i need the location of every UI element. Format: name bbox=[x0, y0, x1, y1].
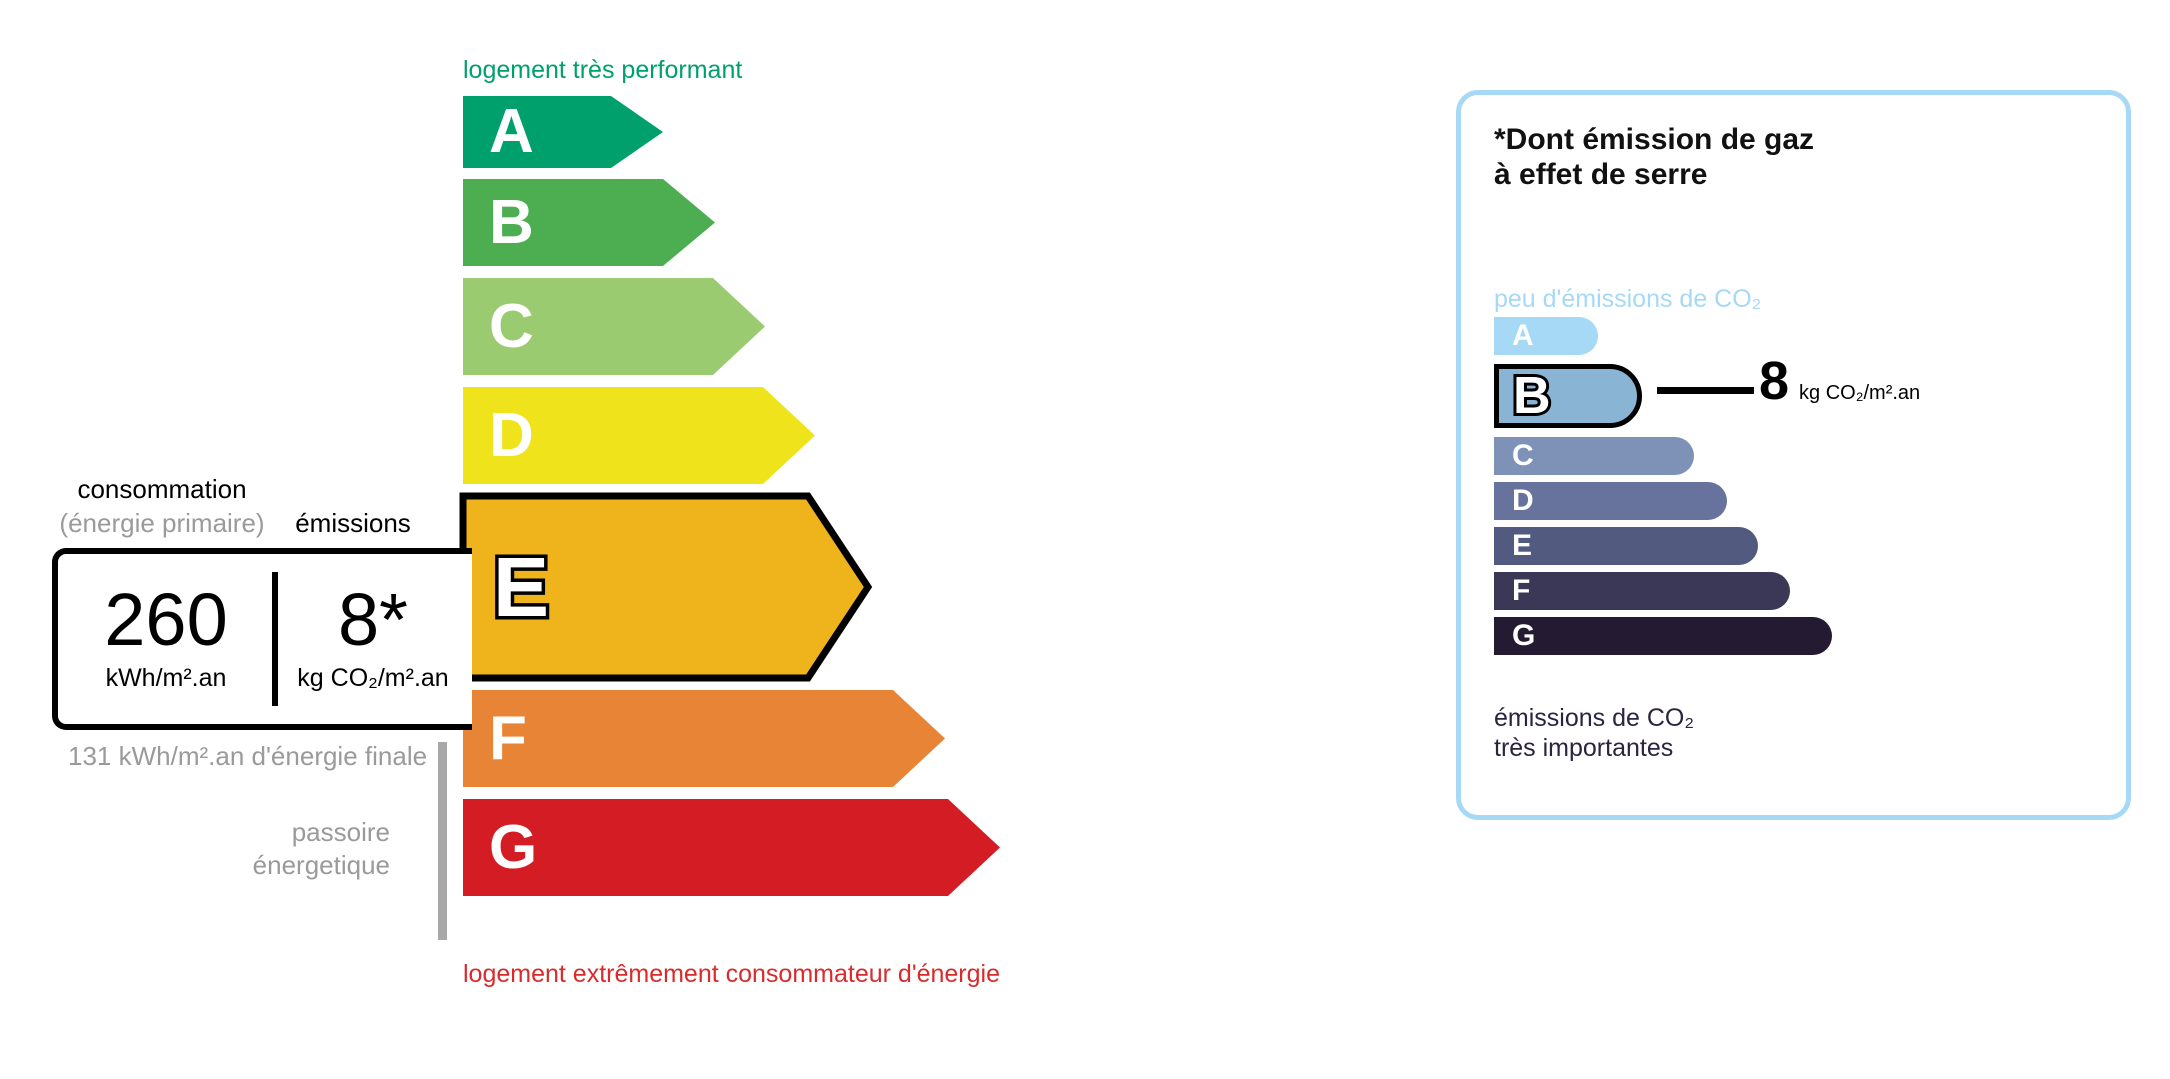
co2-panel-title: *Dont émission de gaz à effet de serre bbox=[1494, 122, 1814, 193]
co2-bar-e: E bbox=[1494, 527, 1758, 565]
energy-band-letter-f: F bbox=[489, 708, 527, 770]
dpe-diagram: logement très performant ABCDEFG consomm… bbox=[0, 0, 2170, 1079]
primary-energy-label: (énergie primaire) bbox=[38, 508, 286, 539]
energy-band-d: D bbox=[463, 387, 815, 484]
energy-sieve-bracket bbox=[438, 742, 447, 940]
co2-emission-panel: *Dont émission de gaz à effet de serre p… bbox=[1456, 90, 2131, 820]
co2-bar-letter-g: G bbox=[1512, 621, 1535, 651]
energy-band-letter-c: C bbox=[489, 296, 534, 358]
energy-scale-bottom-caption: logement extrêmement consommateur d'éner… bbox=[463, 960, 1000, 989]
co2-bar-letter-a: A bbox=[1512, 321, 1534, 351]
energy-band-letter-d: D bbox=[489, 405, 534, 467]
energy-band-c: C bbox=[463, 278, 765, 375]
energy-band-shape-g bbox=[463, 799, 1000, 896]
co2-bar-b: B bbox=[1494, 364, 1642, 428]
energy-band-a: A bbox=[463, 96, 663, 168]
co2-bar-f: F bbox=[1494, 572, 1790, 610]
energy-band-letter-g: G bbox=[489, 817, 537, 879]
emissions-label: émissions bbox=[268, 508, 438, 539]
energy-band-f: F bbox=[463, 690, 945, 787]
co2-bar-g: G bbox=[1494, 617, 1832, 655]
co2-bar-letter-b: B bbox=[1513, 370, 1551, 422]
co2-value-callout: 8 kg CO₂/m².an bbox=[1759, 354, 1920, 408]
co2-value-unit: kg CO₂/m².an bbox=[1799, 382, 1920, 405]
consumption-value: 260 bbox=[104, 585, 227, 655]
energy-band-letter-e: E bbox=[493, 545, 549, 629]
energy-sieve-label: passoire énergetique bbox=[210, 816, 390, 881]
emission-unit: kg CO₂/m².an bbox=[297, 664, 448, 693]
co2-bar-letter-d: D bbox=[1512, 486, 1534, 516]
co2-scale-top-caption: peu d'émissions de CO₂ bbox=[1494, 285, 1761, 314]
co2-bar-letter-f: F bbox=[1512, 576, 1530, 606]
co2-bar-letter-c: C bbox=[1512, 441, 1534, 471]
co2-bar-letter-e: E bbox=[1512, 531, 1532, 561]
emission-value: 8* bbox=[338, 585, 408, 655]
co2-bar-d: D bbox=[1494, 482, 1727, 520]
consumption-unit: kWh/m².an bbox=[106, 664, 227, 693]
co2-value-number: 8 bbox=[1759, 354, 1789, 408]
energy-band-e: E bbox=[463, 496, 868, 678]
co2-bar-a: A bbox=[1494, 317, 1598, 355]
energy-band-shape-f bbox=[463, 690, 945, 787]
emission-cell: 8* kg CO₂/m².an bbox=[274, 554, 472, 724]
final-energy-label: 131 kWh/m².an d'énergie finale bbox=[68, 740, 427, 773]
energy-band-letter-a: A bbox=[489, 101, 534, 163]
co2-leader-line bbox=[1657, 387, 1754, 394]
energy-scale-top-caption: logement très performant bbox=[463, 56, 742, 85]
energy-band-g: G bbox=[463, 799, 1000, 896]
value-summary-box: 260 kWh/m².an 8* kg CO₂/m².an bbox=[52, 548, 472, 730]
consumption-label: consommation bbox=[57, 474, 267, 505]
consumption-cell: 260 kWh/m².an bbox=[58, 554, 274, 724]
energy-band-b: B bbox=[463, 179, 715, 266]
energy-performance-scale: logement très performant ABCDEFG consomm… bbox=[0, 0, 1380, 1079]
energy-band-letter-b: B bbox=[489, 192, 534, 254]
co2-bar-c: C bbox=[1494, 437, 1694, 475]
co2-scale-bottom-caption: émissions de CO₂ très importantes bbox=[1494, 703, 1694, 763]
